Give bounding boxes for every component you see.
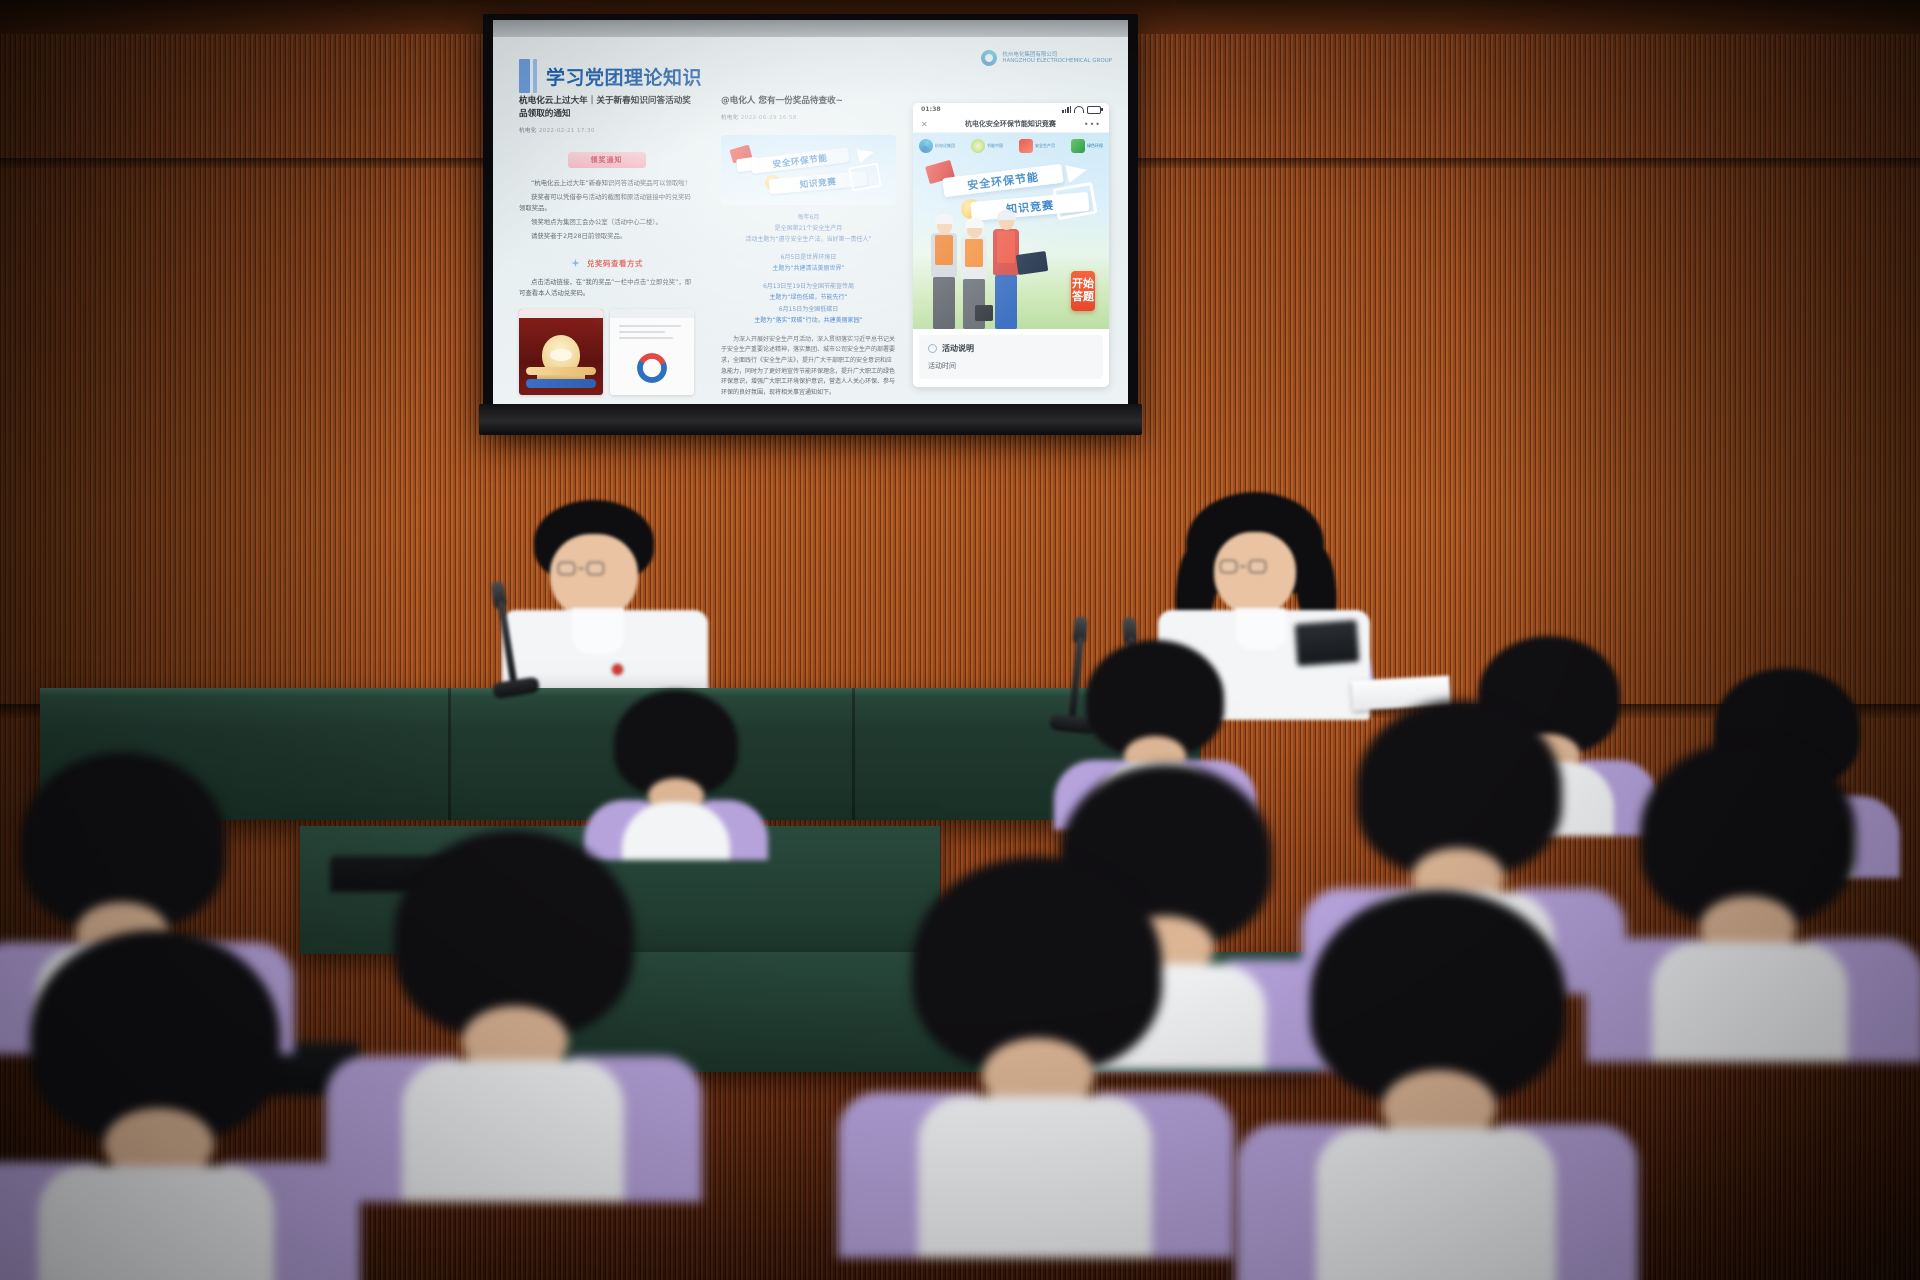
sponsor-logo-2: 节能中国 xyxy=(971,138,1003,154)
toolcase-icon xyxy=(975,305,993,321)
notice-paragraph-1: “杭电化云上过大年”新春知识问答活动奖品可以领取啦！ xyxy=(519,178,694,189)
redeem-code-subheading: 兑奖码查看方式 xyxy=(519,258,694,269)
projection-screen-bottom-bar xyxy=(479,404,1142,435)
article-title-2: @电化人 您有一份奖品待查收~ xyxy=(721,95,896,108)
center-line-9: 主题为“落实“双碳”行动，共建美丽家园” xyxy=(721,315,896,326)
paper-plane-icon xyxy=(857,145,876,162)
close-icon[interactable]: ✕ xyxy=(921,120,937,129)
slide-column-notice: 杭电化云上过大年｜关于新春知识问答活动奖品领取的通知 杭电化 2022-02-2… xyxy=(519,95,694,395)
presentation-slide: 学习党团理论知识 杭州电化集团有限公司 HANGZHOU ELECTROCHEM… xyxy=(493,37,1128,418)
glasses-icon-right xyxy=(1220,560,1266,573)
logo-text: 杭州电化集团有限公司 HANGZHOU ELECTROCHEMICAL GROU… xyxy=(1002,52,1112,65)
logo-mark-icon xyxy=(981,50,997,66)
activity-info-card: 活动说明 活动时间 xyxy=(919,335,1103,379)
article-date-2: 2022-06-29 16:58 xyxy=(741,115,797,121)
laptop xyxy=(1295,620,1360,666)
notice-paragraph-2: 获奖者可以凭借参与活动的截图和原活动链接中的兑奖码领取奖品。 xyxy=(519,192,694,214)
phone-mockup: 01:38 ✕ 杭电化安全环保节能知识竞赛 ••• xyxy=(913,103,1109,387)
sponsor-label-3: 安全生产月 xyxy=(1035,143,1055,149)
slide-accent-bars xyxy=(519,59,537,93)
battery-icon xyxy=(1087,106,1101,114)
audience-member-8 xyxy=(1600,740,1920,1060)
hero-plane-icon xyxy=(1065,161,1088,183)
center-line-8: 6月15日为全国低碳日 xyxy=(721,304,896,315)
sparkle-icon xyxy=(570,258,581,269)
company-logo: 杭州电化集团有限公司 HANGZHOU ELECTROCHEMICAL GROU… xyxy=(981,50,1112,66)
center-line-6: 6月13日至19日为全国节能宣传周 xyxy=(721,281,896,292)
audience-member-10 xyxy=(856,856,1216,1256)
center-line-2: 是全国第21个安全生产月 xyxy=(721,223,896,234)
start-quiz-button[interactable]: 开始答题 xyxy=(1071,271,1095,311)
center-line-1: 每年6月 xyxy=(721,212,896,223)
presenter-left xyxy=(510,500,700,710)
redeem-code-label: 兑奖码查看方式 xyxy=(587,258,643,269)
tiger-poster-screenshot xyxy=(519,309,603,395)
screenshot-row xyxy=(519,309,694,395)
worker-3 xyxy=(993,215,1019,329)
prize-notice-badge: 领奖通知 xyxy=(568,152,646,168)
presenter-right-face xyxy=(1214,532,1296,616)
notice-paragraph-4: 请获奖者于2月28日前领取奖品。 xyxy=(519,231,694,242)
slide-column-prize: @电化人 您有一份奖品待查收~ 杭电化 2022-06-29 16:58 安全环… xyxy=(721,95,896,418)
bullet-icon xyxy=(928,344,937,353)
miniapp-title: 杭电化安全环保节能知识竞赛 xyxy=(937,119,1084,129)
logo-line-2: HANGZHOU ELECTROCHEMICAL GROUP xyxy=(1002,58,1112,64)
activity-time-label: 活动时间 xyxy=(928,361,1094,371)
article-title: 杭电化云上过大年｜关于新春知识问答活动奖品领取的通知 xyxy=(519,95,694,121)
conference-room-photo: 学习党团理论知识 杭州电化集团有限公司 HANGZHOU ELECTROCHEM… xyxy=(0,0,1920,1280)
worker-1 xyxy=(931,219,957,329)
center-line-3: 活动主题为“遵守安全生产法，当好第一责任人” xyxy=(721,234,896,245)
center-line-5: 主题为“共建清洁美丽世界” xyxy=(721,263,896,274)
slide-title: 学习党团理论知识 xyxy=(546,63,702,90)
projection-screen-frame: 学习党团理论知识 杭州电化集团有限公司 HANGZHOU ELECTROCHEM… xyxy=(483,14,1138,432)
audience-member-11 xyxy=(1250,890,1620,1280)
banner-line-1: 安全环保节能 xyxy=(750,147,849,174)
party-badge xyxy=(612,664,623,675)
activity-description-row[interactable]: 活动说明 xyxy=(928,343,1094,354)
hero-monitor-icon xyxy=(1053,182,1098,220)
wifi-icon xyxy=(1074,106,1084,113)
projection-screen: 学习党团理论知识 杭州电化集团有限公司 HANGZHOU ELECTROCHEM… xyxy=(493,20,1128,418)
sponsor-logo-1: 杭电化集团 xyxy=(919,138,955,154)
article-meta: 杭电化 2022-02-21 17:30 xyxy=(519,126,694,134)
company-swirl-icon xyxy=(637,353,667,383)
sponsor-label-4: 绿色环保 xyxy=(1087,143,1103,149)
cta-text: 开始答题 xyxy=(1071,278,1095,304)
slide-columns: 杭电化云上过大年｜关于新春知识问答活动奖品领取的通知 杭电化 2022-02-2… xyxy=(493,95,1128,418)
glasses-icon xyxy=(558,562,604,575)
safety-quiz-banner: 安全环保节能 知识竞赛 xyxy=(721,135,896,205)
redeem-instructions: 点击活动链接，在“我的奖品”一栏中点击“立即兑奖”，即可查看本人活动兑奖码。 xyxy=(519,277,694,299)
article-source: 杭电化 xyxy=(519,128,537,134)
article-source-2: 杭电化 xyxy=(721,115,739,121)
presenter-left-collar xyxy=(572,608,624,654)
monitor-icon xyxy=(848,162,882,191)
activity-description-label: 活动说明 xyxy=(942,343,974,354)
article-meta-2: 杭电化 2022-06-29 16:58 xyxy=(721,113,896,121)
sponsor-logo-row: 杭电化集团 节能中国 安全生产月 绿色环保 xyxy=(919,138,1103,154)
slide-column-miniapp: 01:38 ✕ 杭电化安全环保节能知识竞赛 ••• xyxy=(913,95,1109,387)
hero-line-1: 安全环保节能 xyxy=(942,164,1063,197)
notice-paragraph-3: 领奖地点为集团工会办公室（活动中心二楼）。 xyxy=(519,217,694,228)
more-icon[interactable]: ••• xyxy=(1084,120,1101,129)
wechat-article-screenshot xyxy=(610,309,694,395)
sponsor-logo-4: 绿色环保 xyxy=(1071,138,1103,154)
sponsor-logo-3: 安全生产月 xyxy=(1019,138,1055,154)
audience-member-9 xyxy=(350,830,690,1200)
center-line-7: 主题为“绿色低碳，节能先行” xyxy=(721,292,896,303)
miniapp-navbar: ✕ 杭电化安全环保节能知识竞赛 ••• xyxy=(913,116,1109,133)
miniapp-hero-illustration: 杭电化集团 节能中国 安全生产月 绿色环保 安全环保节能 知识竞赛 xyxy=(913,133,1109,329)
article-date: 2022-02-21 17:30 xyxy=(539,128,595,134)
prize-body-paragraph: 为深入开展好安全生产月活动，深入贯彻落实习近平总书记关于安全生产重要论述精神，落… xyxy=(721,335,896,399)
phone-status-bar: 01:38 xyxy=(913,103,1109,116)
status-time: 01:38 xyxy=(921,106,941,113)
sponsor-label-2: 节能中国 xyxy=(987,143,1003,149)
center-line-4: 6月5日是世界环境日 xyxy=(721,252,896,263)
slide-header: 学习党团理论知识 xyxy=(519,59,702,93)
tablet-icon xyxy=(1016,251,1048,275)
worker-illustration xyxy=(931,217,1059,329)
signal-icon xyxy=(1062,106,1071,114)
slide-top-bar xyxy=(493,20,1128,37)
audience-member-12 xyxy=(0,930,360,1280)
sponsor-label-1: 杭电化集团 xyxy=(935,143,955,149)
